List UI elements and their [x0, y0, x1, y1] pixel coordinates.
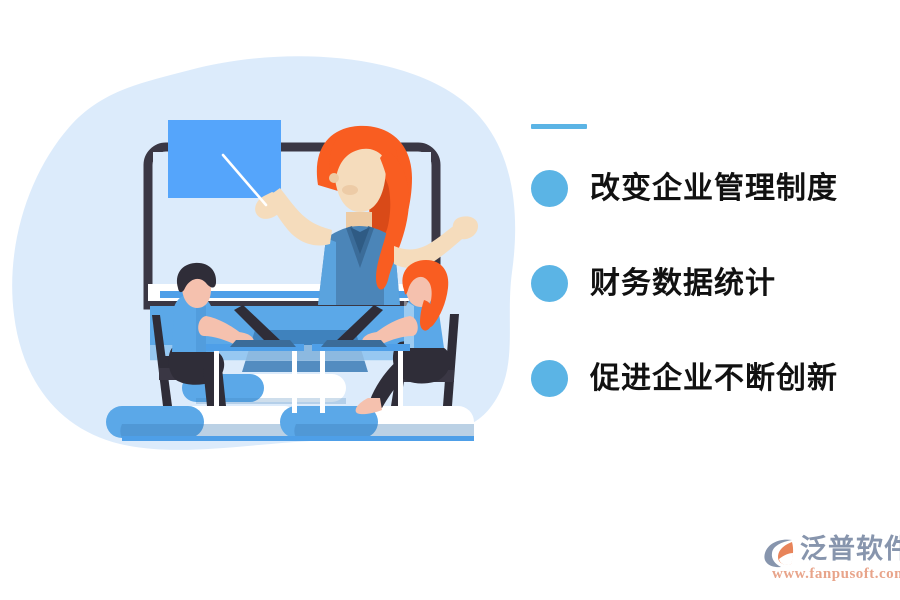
bullet-dot-icon	[531, 170, 568, 207]
bullet-list-panel: 改变企业管理制度 财务数据统计 促进企业不断创新	[531, 110, 881, 410]
bullet-item-2: 财务数据统计	[531, 265, 881, 302]
bullet-item-1: 改变企业管理制度	[531, 170, 881, 207]
stacked-books-front	[106, 406, 474, 441]
bullet-item-2-label: 财务数据统计	[590, 269, 776, 299]
bullet-dot-icon	[531, 265, 568, 302]
presentation-slide	[168, 120, 281, 198]
fanpu-c-mark-icon	[762, 537, 798, 569]
bullet-item-3-label: 促进企业不断创新	[590, 364, 838, 394]
page-root: 改变企业管理制度 财务数据统计 促进企业不断创新 泛普软件 www.fanpus…	[0, 0, 900, 600]
bullet-dot-icon	[531, 360, 568, 397]
classroom-presentation-illustration	[0, 0, 530, 520]
accent-rule	[531, 124, 587, 129]
bullet-item-3: 促进企业不断创新	[531, 360, 881, 397]
brand-name: 泛普软件	[800, 533, 900, 565]
teacher-cheek	[342, 185, 358, 195]
bullet-item-1-label: 改变企业管理制度	[590, 174, 838, 204]
teacher-ear	[329, 173, 339, 183]
brand-url: www.fanpusoft.com	[772, 566, 900, 583]
brand-logo: 泛普软件 www.fanpusoft.com	[762, 533, 892, 585]
